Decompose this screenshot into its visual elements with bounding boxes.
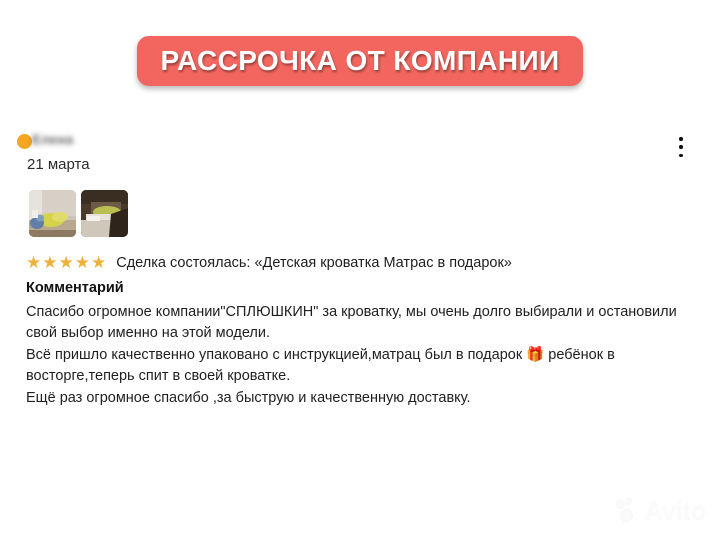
comment-paragraph: Всё пришло качественно упаковано с инстр… xyxy=(26,345,694,387)
menu-dot xyxy=(679,145,683,149)
star-icon: ★ xyxy=(42,254,57,271)
comment-block: Комментарий Спасибо огромное компании"СП… xyxy=(26,280,694,410)
star-icon: ★ xyxy=(75,254,90,271)
avito-logo-icon xyxy=(616,498,642,524)
menu-dot xyxy=(679,154,683,158)
rating-stars: ★ ★ ★ ★ ★ xyxy=(26,254,106,271)
avito-watermark-text: Avito xyxy=(644,495,706,526)
star-icon: ★ xyxy=(91,254,106,271)
photo-image xyxy=(29,190,76,237)
review-date: 21 марта xyxy=(27,156,90,173)
promo-banner: РАССРОЧКА ОТ КОМПАНИИ xyxy=(137,36,583,86)
star-icon: ★ xyxy=(26,254,41,271)
comment-heading: Комментарий xyxy=(26,280,694,296)
review-photo-thumbnail[interactable] xyxy=(29,190,76,237)
photo-strip xyxy=(29,190,128,237)
review-header: Елена 21 марта xyxy=(0,118,720,174)
promo-banner-text: РАССРОЧКА ОТ КОМПАНИИ xyxy=(160,45,559,77)
avatar xyxy=(17,134,32,149)
more-vertical-icon[interactable] xyxy=(672,136,690,158)
comment-paragraph: Ещё раз огромное спасибо ,за быструю и к… xyxy=(26,388,694,409)
review-card: Елена 21 марта xyxy=(0,118,720,174)
deal-status-text: Сделка состоялась: «Детская кроватка Мат… xyxy=(116,255,512,271)
author-name: Елена xyxy=(32,132,74,147)
photo-image xyxy=(81,190,128,237)
avito-watermark: Avito xyxy=(616,495,706,526)
menu-dot xyxy=(679,137,683,141)
rating-row: ★ ★ ★ ★ ★ Сделка состоялась: «Детская кр… xyxy=(26,254,512,271)
comment-paragraph: Спасибо огромное компании"СПЛЮШКИН" за к… xyxy=(26,302,694,344)
review-photo-thumbnail[interactable] xyxy=(81,190,128,237)
star-icon: ★ xyxy=(59,254,74,271)
